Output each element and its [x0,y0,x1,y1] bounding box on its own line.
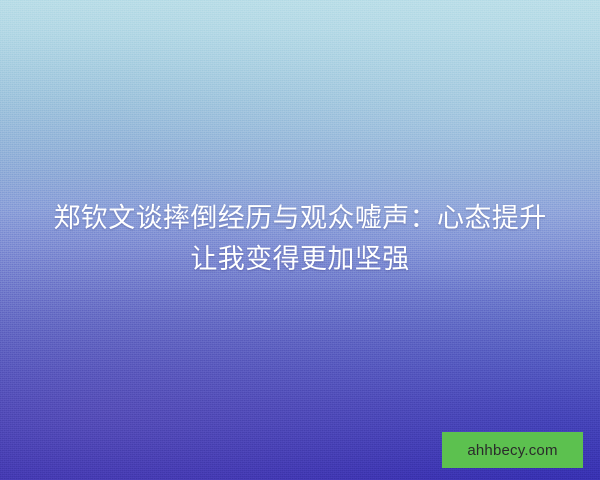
site-watermark-label: ahhbecy.com [467,442,557,459]
site-watermark-badge: ahhbecy.com [442,432,583,468]
thumbnail-canvas: 郑钦文谈摔倒经历与观众嘘声：心态提升 让我变得更加坚强 ahhbecy.com [0,0,600,480]
headline-text: 郑钦文谈摔倒经历与观众嘘声：心态提升 让我变得更加坚强 [0,198,600,280]
